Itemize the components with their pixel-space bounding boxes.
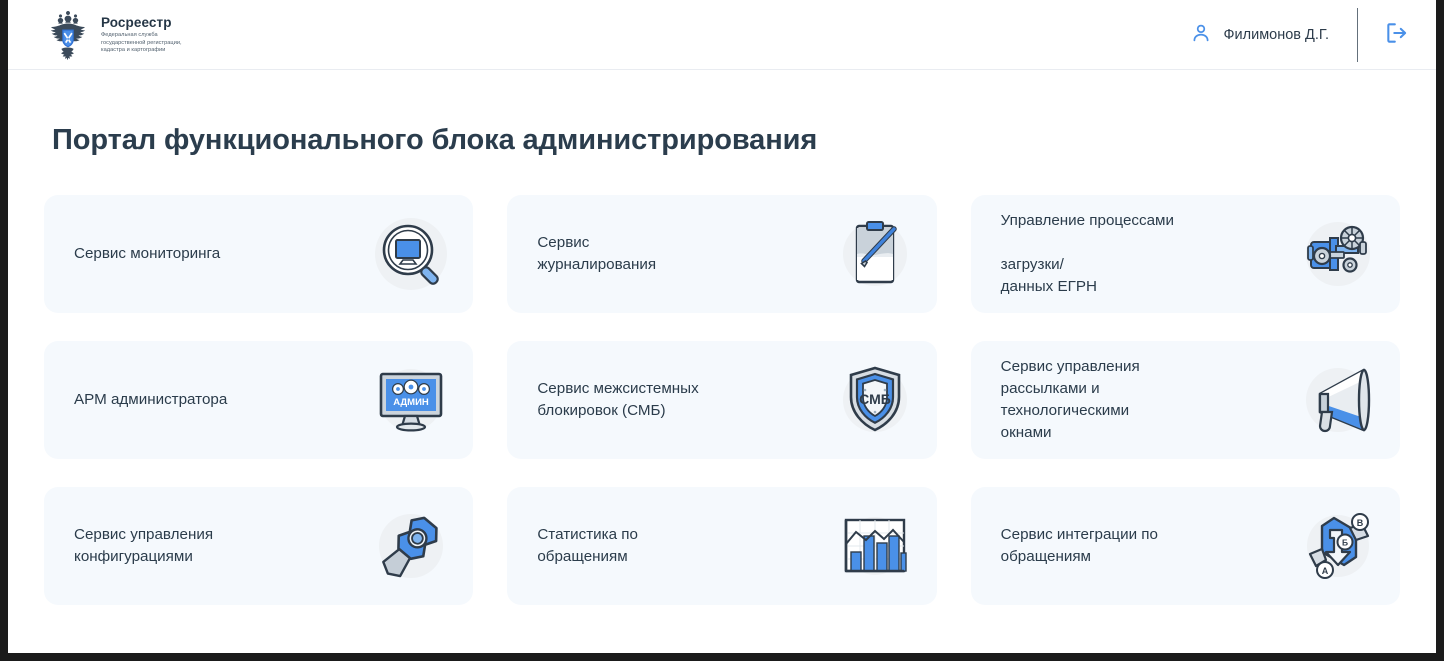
brand-title: Росреестр [101,15,182,30]
browser-viewport: Росреестр Федеральная служба государстве… [8,0,1436,653]
service-card-configuration[interactable]: Сервис управления конфигурациями [44,487,473,605]
service-card-label: Сервис управления рассылками и технологи… [1001,356,1140,444]
user-account[interactable]: Филимонов Д.Г. [1190,22,1357,49]
service-card-mailing[interactable]: Сервис управления рассылками и технологи… [971,341,1400,459]
wrench-icon [373,508,449,584]
main-content: Портал функционального блока администрир… [8,124,1436,605]
machine-gears-icon [1300,216,1376,292]
service-card-statistics[interactable]: Статистика по обращениям [507,487,936,605]
admin-icon-text: АДМИН [394,397,430,408]
bar-chart-icon [837,508,913,584]
brand-subtitle: Федеральная служба государственной регис… [101,32,182,54]
user-name: Филимонов Д.Г. [1224,27,1329,43]
smb-icon-text: СМБ [859,391,891,407]
service-card-smb[interactable]: Сервис межсистемных блокировок (СМБ) СМБ [507,341,936,459]
logout-icon [1384,20,1410,51]
service-card-grid: Сервис мониторинга Сервис журналирования [44,195,1400,605]
service-card-integration[interactable]: Сервис интеграции по обращениям В Б А [971,487,1400,605]
service-card-label: Сервис интеграции по обращениям [1001,524,1158,568]
service-card-admin-arm[interactable]: АРМ администратора [44,341,473,459]
header-right-group: Филимонов Д.Г. [1190,0,1436,70]
double-headed-eagle-emblem-icon [45,9,91,61]
service-card-label: Сервис управления конфигурациями [74,524,213,568]
service-card-egrn-load[interactable]: Управление процессами загрузки/ данных Е… [971,195,1400,313]
brand-text: Росреестр Федеральная служба государстве… [101,15,182,54]
service-card-label: Управление процессами загрузки/ данных Е… [1001,210,1174,298]
service-card-label: Сервис мониторинга [74,243,220,265]
person-icon [1190,22,1212,49]
integration-arrows-icon: В Б А [1300,508,1376,584]
service-card-label: Сервис журналирования [537,232,656,276]
service-card-label: Статистика по обращениям [537,524,638,568]
integration-node-b2-text: Б [1342,538,1348,548]
integration-node-b-text: В [1357,518,1364,528]
service-card-journaling[interactable]: Сервис журналирования [507,195,936,313]
shield-smb-icon: СМБ [837,362,913,438]
integration-node-a-text: А [1322,566,1329,576]
clipboard-pen-icon [837,216,913,292]
header-divider [1357,8,1358,62]
megaphone-icon [1300,362,1376,438]
page-header: Росреестр Федеральная служба государстве… [8,0,1436,70]
page-title: Портал функционального блока администрир… [52,124,1400,157]
service-card-label: АРМ администратора [74,389,227,411]
logout-button[interactable] [1358,20,1436,51]
service-card-monitoring[interactable]: Сервис мониторинга [44,195,473,313]
service-card-label: Сервис межсистемных блокировок (СМБ) [537,378,698,422]
monitor-gears-admin-icon: АДМИН [373,362,449,438]
magnifier-monitor-icon [373,216,449,292]
brand-logo[interactable]: Росреестр Федеральная служба государстве… [45,9,182,61]
